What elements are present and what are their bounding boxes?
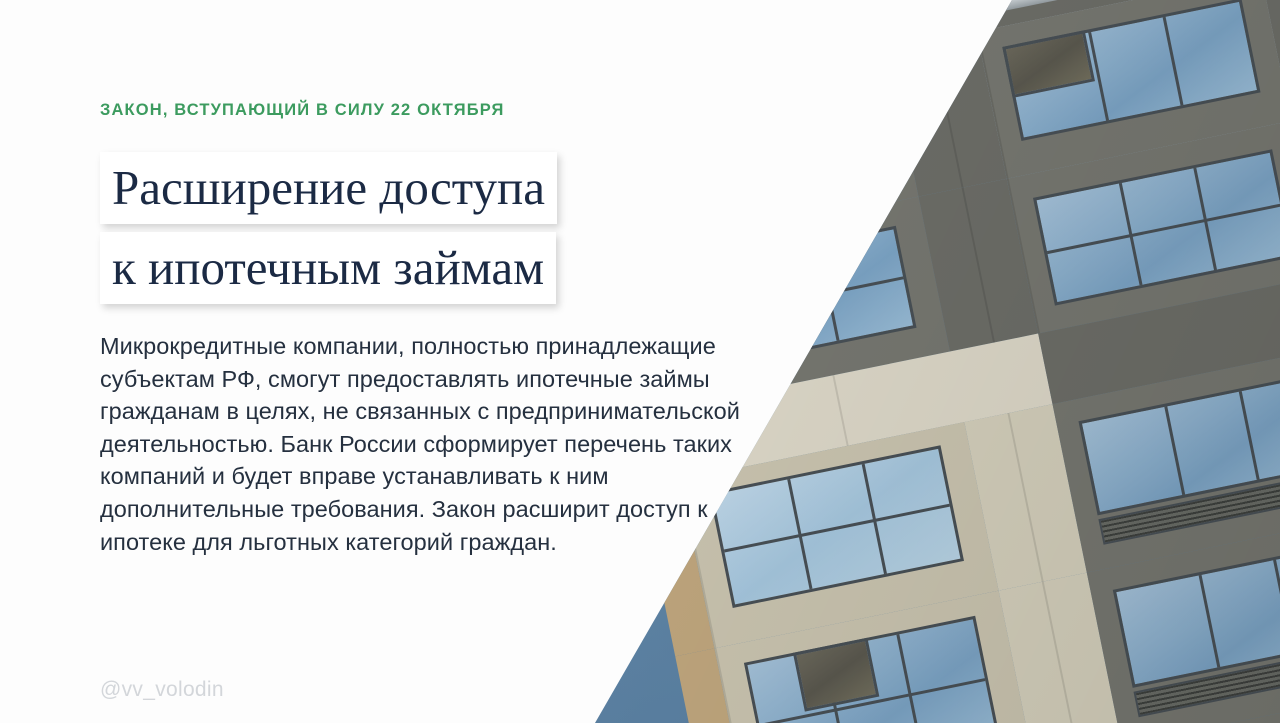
- body-paragraph: Микрокредитные компании, полностью прина…: [100, 330, 750, 558]
- window-pane: [1113, 541, 1280, 688]
- account-handle-watermark: @vv_volodin: [100, 678, 224, 702]
- headline-line-1: Расширение доступа: [100, 152, 557, 224]
- headline-line-2: к ипотечным займам: [100, 232, 556, 304]
- eyebrow-label: ЗАКОН, ВСТУПАЮЩИЙ В СИЛУ 22 ОКТЯБРЯ: [100, 101, 505, 120]
- body-text: Микрокредитные компании, полностью прина…: [100, 330, 750, 558]
- page-title: Расширение доступа к ипотечным займам: [100, 152, 740, 304]
- window-pane: [1033, 149, 1280, 305]
- slide-root: ЗАКОН, ВСТУПАЮЩИЙ В СИЛУ 22 ОКТЯБРЯ Расш…: [0, 0, 1280, 723]
